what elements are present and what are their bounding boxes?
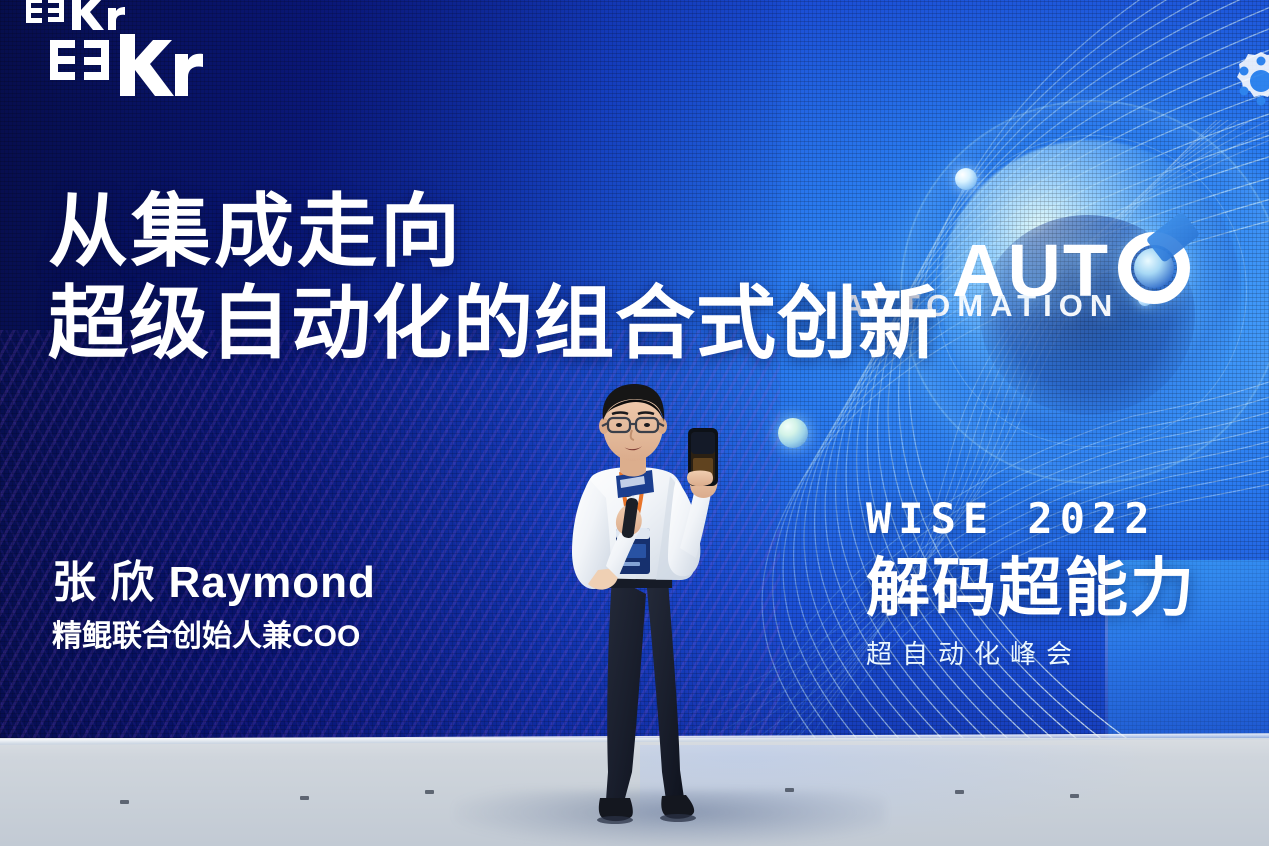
floor-marker bbox=[425, 790, 434, 794]
event-year-wordmark: WISE 2022 bbox=[866, 495, 1196, 543]
sphere-icon-mid bbox=[778, 418, 808, 448]
conference-stage-photo: AUTOMATION AUT 从集成走向 超级自动化的组合式创新 张 欣 Ray… bbox=[0, 0, 1269, 846]
event-headline: 解码超能力 bbox=[866, 549, 1196, 627]
title-line-1: 从集成走向 bbox=[48, 187, 463, 276]
speaker-caption: 张 欣 Raymond 精鲲联合创始人兼COO bbox=[52, 556, 572, 658]
floor-marker bbox=[785, 788, 794, 792]
event-branding-block: WISE 2022 解码超能力 超自动化峰会 bbox=[866, 495, 1196, 671]
logo-36kr-large bbox=[44, 30, 240, 130]
page-title: 从集成走向 超级自动化的组合式创新 bbox=[48, 186, 1058, 370]
speaker-person bbox=[520, 380, 780, 846]
event-subheadline: 超自动化峰会 bbox=[866, 637, 1196, 671]
floor-marker bbox=[1070, 794, 1079, 798]
floor-marker bbox=[955, 790, 964, 794]
floor-marker bbox=[120, 800, 129, 804]
gear-icon bbox=[1228, 48, 1269, 114]
speaker-role: 精鲲联合创始人兼COO bbox=[52, 616, 572, 658]
title-line-2: 超级自动化的组合式创新 bbox=[48, 278, 1058, 370]
speaker-name: 张 欣 Raymond bbox=[52, 556, 572, 610]
floor-marker bbox=[300, 796, 309, 800]
